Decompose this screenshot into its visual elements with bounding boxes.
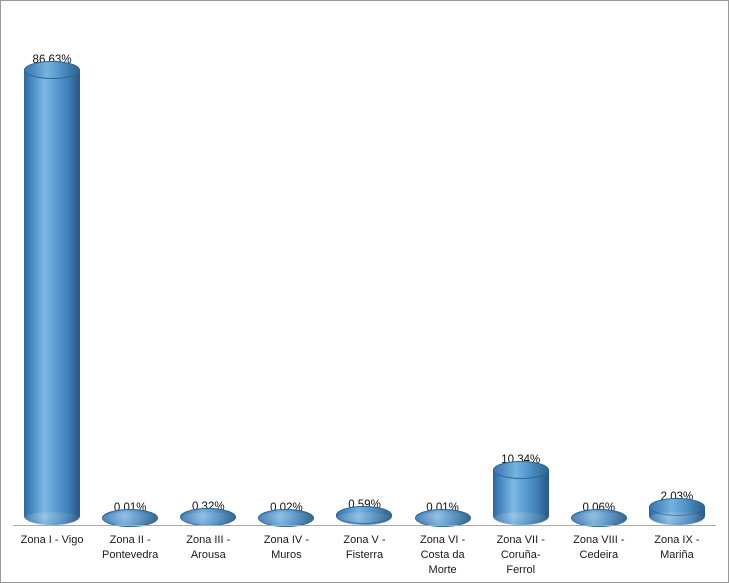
category-label-line: Zona V - [325, 533, 403, 548]
cylinder-bar[interactable] [415, 518, 471, 525]
category-label: Zona VIII - Cedeira [560, 529, 638, 581]
bar-item[interactable]: 0,32% [169, 11, 247, 525]
category-label-line: Zona IX - [638, 533, 716, 548]
bar-item[interactable]: 0,06% [560, 11, 638, 525]
cylinder-top-ellipse [24, 61, 80, 79]
category-label: Zona V - Fisterra [325, 529, 403, 581]
category-label-line: Zona IV - [247, 533, 325, 548]
cylinder-bar[interactable] [24, 70, 80, 525]
category-label-line: Arousa [169, 548, 247, 563]
category-label-line: Cedeira [560, 548, 638, 563]
cylinder-top-ellipse [180, 508, 236, 526]
category-label: Zona I - Vigo [13, 529, 91, 581]
cylinder-top-ellipse [649, 498, 705, 516]
category-label: Zona IX - Mariña [638, 529, 716, 581]
cylinder-top-ellipse [493, 461, 549, 479]
bars-row: 86,63% 0,01% 0,32% 0,02% [13, 11, 716, 525]
cylinder-body [24, 70, 80, 525]
category-label-line: Zona III - [169, 533, 247, 548]
category-label: Zona II - Pontevedra [91, 529, 169, 581]
category-label-line: Zona VI - [404, 533, 482, 548]
bar-item[interactable]: 0,01% [404, 11, 482, 525]
cylinder-bar[interactable] [493, 470, 549, 525]
category-label-line: Pontevedra [91, 548, 169, 563]
bar-item[interactable]: 0,59% [325, 11, 403, 525]
cylinder-bar[interactable] [102, 518, 158, 525]
bar-item[interactable]: 0,01% [91, 11, 169, 525]
category-label: Zona VII - Coruña- Ferrol [482, 529, 560, 581]
category-label-line: Muros [247, 548, 325, 563]
cylinder-bar[interactable] [180, 517, 236, 525]
bar-item[interactable]: 0,02% [247, 11, 325, 525]
category-label: Zona VI - Costa da Morte [404, 529, 482, 581]
category-axis-line [13, 525, 716, 526]
category-label-line: Zona I - Vigo [13, 533, 91, 548]
bar-item[interactable]: 86,63% [13, 11, 91, 525]
category-label-line: Fisterra [325, 548, 403, 563]
cylinder-bar[interactable] [336, 515, 392, 525]
cylinder-bar[interactable] [571, 518, 627, 525]
category-label-line: Coruña- [482, 548, 560, 563]
category-label-line: Ferrol [482, 563, 560, 578]
category-label: Zona III - Arousa [169, 529, 247, 581]
chart-container: 86,63% 0,01% 0,32% 0,02% [0, 0, 729, 583]
category-label-line: Zona II - [91, 533, 169, 548]
cylinder-bar[interactable] [649, 507, 705, 525]
category-labels-row: Zona I - Vigo Zona II - Pontevedra Zona … [13, 529, 716, 581]
category-label-line: Costa da [404, 548, 482, 563]
bar-item[interactable]: 2,03% [638, 11, 716, 525]
category-label-line: Morte [404, 563, 482, 578]
cylinder-bar[interactable] [258, 518, 314, 525]
category-label-line: Zona VII - [482, 533, 560, 548]
category-label-line: Zona VIII - [560, 533, 638, 548]
category-label: Zona IV - Muros [247, 529, 325, 581]
bar-item[interactable]: 10,34% [482, 11, 560, 525]
category-label-line: Mariña [638, 548, 716, 563]
